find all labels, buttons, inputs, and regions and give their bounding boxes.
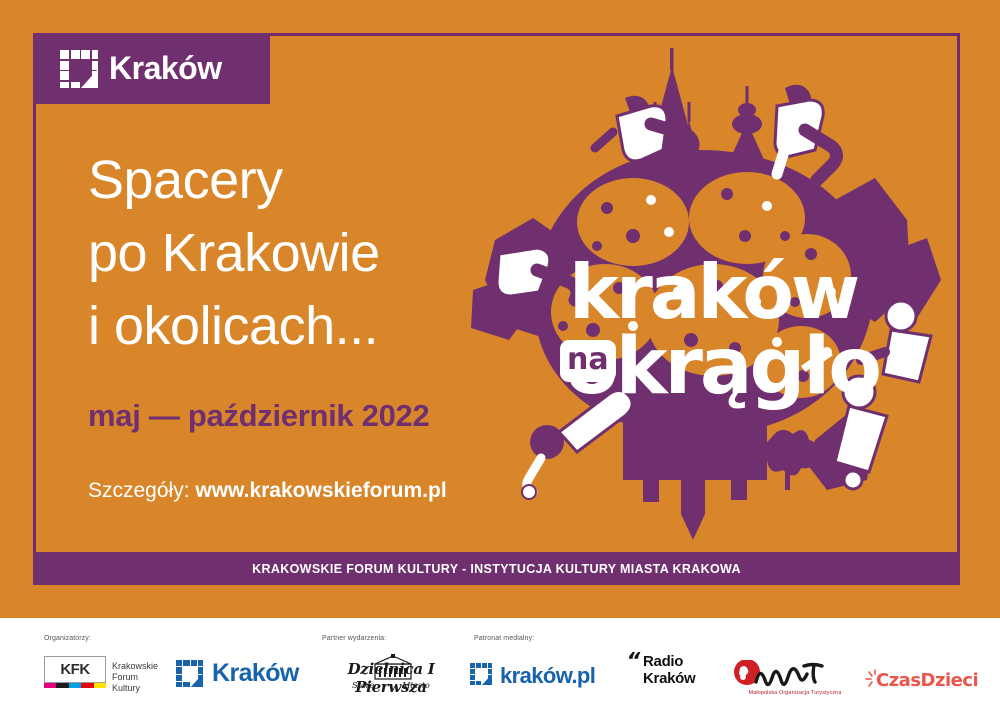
page-title: Spacery po Krakowie i okolicach... [88,144,488,363]
headline-line-2: po Krakowie [88,217,488,290]
details-line: Szczegóły: www.krakowskieforum.pl [88,479,447,503]
dzielnica-name: Dzielnica I Pierwsza [316,660,466,696]
mot-mark-icon [730,660,850,690]
poster-root: Kraków Spacery po Krakowie i okolicach..… [0,0,1000,714]
krakow-logo-text-blue: Kraków [212,658,299,689]
label-patronat: Patronat medialny: [474,635,534,642]
institution-band: KRAKOWSKIE FORUM KULTURY - INSTYTUCJA KU… [33,552,960,585]
kfk-mark: KFK [44,656,106,683]
headline-line-3: i okolicach... [88,290,488,363]
krakow-grid-icon-blue [176,660,203,687]
event-date-range: maj — październik 2022 [88,398,429,434]
figure-right-upper [775,85,837,180]
details-prefix: Szczegóły: [88,479,195,502]
radio-krakow-text: Radio Kraków [643,653,695,687]
sponsor-logo-krakow[interactable]: Kraków [176,656,321,690]
dzielnica-sub-1: Stare [352,681,374,690]
sponsor-logo-dzielnica[interactable]: Dzielnica I Pierwsza StareMiasto [316,654,466,694]
headline-line-1: Spacery [88,144,488,217]
czasdzieci-text: CzasDzieci [876,670,978,691]
details-url[interactable]: www.krakowskieforum.pl [195,479,446,502]
sponsor-strip: Organizatorzy: Partner wydarzenia: Patro… [0,618,1000,714]
sponsor-logo-czasdzieci[interactable]: CzasDzieci [864,666,984,696]
sponsor-logo-krakow-pl[interactable]: kraków.pl [470,658,610,692]
radio-line-1: Radio [643,653,695,670]
artwork-svg [455,40,945,560]
radio-line-2: Kraków [643,670,695,687]
sponsor-logo-kfk[interactable]: KFK Krakowskie Forum Kultury [44,656,106,690]
sponsor-logo-radio-krakow[interactable]: “ Radio Kraków [626,651,706,691]
bottom-tree-detail [762,430,817,490]
barbican-silhouette [623,411,767,540]
kfk-name-line-2: Forum Kultury [112,672,158,694]
krakow-logo-text: Kraków [109,47,222,89]
krakow-pl-text: kraków.pl [500,660,595,691]
radio-quote-icon: “ [623,649,643,674]
krakow-city-logo: Kraków [33,33,270,104]
krakow-na-okraglo-artwork: kraków okrągło na [455,40,945,560]
institution-band-text: KRAKOWSKIE FORUM KULTURY - INSTYTUCJA KU… [252,562,741,576]
krakow-pl-grid-icon [470,663,492,685]
label-organizatorzy: Organizatorzy: [44,635,91,642]
kfk-cmyk-strip [44,683,106,688]
mot-subtitle: Małopolska Organizacja Turystyczna [730,690,860,696]
poster-background: Kraków Spacery po Krakowie i okolicach..… [0,0,1000,618]
sponsor-logo-mot[interactable]: Małopolska Organizacja Turystyczna [730,660,860,700]
kfk-name: Krakowskie Forum Kultury [112,661,158,694]
dzielnica-sub: StareMiasto [316,681,466,690]
label-partner: Partner wydarzenia: [322,635,386,642]
dzielnica-sub-2: Miasto [402,681,430,690]
krakow-grid-icon [60,50,98,88]
kfk-name-line-1: Krakowskie [112,661,158,672]
figure-bottom-left [522,390,632,499]
